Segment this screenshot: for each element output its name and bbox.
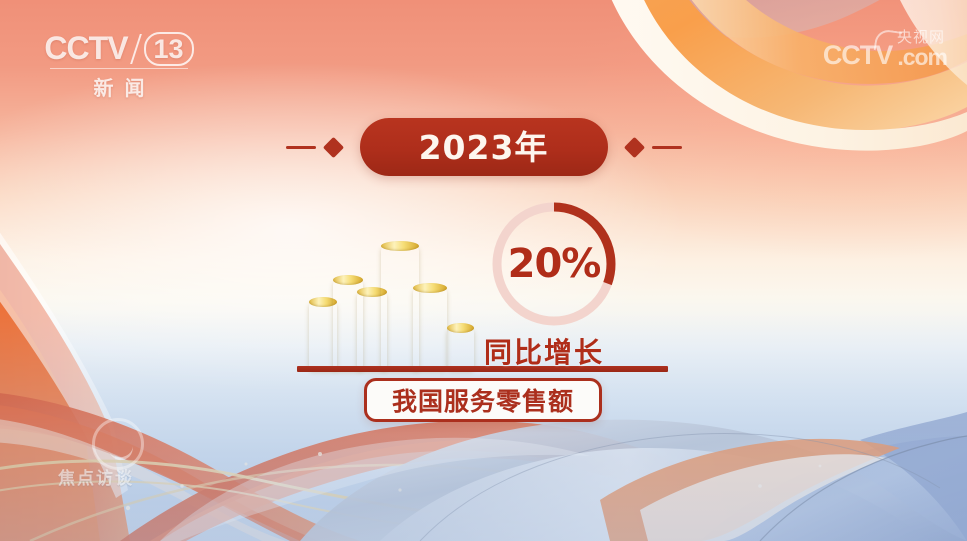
coin-stack-top-icon bbox=[381, 241, 419, 251]
cctv-com-chinese: 央视网 bbox=[897, 26, 945, 47]
year-pill[interactable]: 2023年 bbox=[360, 118, 608, 176]
coin-stack-body bbox=[413, 288, 447, 370]
cctv-com-domain: .com bbox=[897, 44, 947, 71]
logo-slash-icon bbox=[130, 34, 142, 64]
coin-stack-top-icon bbox=[413, 283, 447, 293]
coin-stack-top-icon bbox=[333, 275, 363, 285]
baseline-rule bbox=[297, 366, 668, 372]
year-label: 2023年 bbox=[419, 131, 549, 164]
percent-donut-chart: 20% bbox=[487, 197, 621, 331]
subject-label: 我国服务零售额 bbox=[392, 382, 574, 418]
coin-stack-5 bbox=[413, 288, 447, 370]
percent-value: 20% bbox=[487, 197, 621, 331]
coin-stack-body bbox=[447, 328, 474, 370]
growth-label: 同比增长 bbox=[484, 331, 604, 371]
program-watermark: 焦点访谈 bbox=[58, 430, 134, 455]
coin-stacks-illustration bbox=[305, 236, 480, 370]
program-ring-icon bbox=[92, 418, 144, 470]
cctv-com-watermark: 央视网 CCTV .com bbox=[823, 40, 947, 71]
coin-stack-6 bbox=[447, 328, 474, 370]
program-title: 焦点访谈 bbox=[58, 469, 134, 489]
cctv-logo-row: CCTV 13 bbox=[44, 30, 194, 67]
coin-stack-top-icon bbox=[447, 323, 474, 333]
cctv-wordmark: CCTV bbox=[44, 30, 127, 67]
channel-subtitle: 新闻 bbox=[44, 72, 194, 101]
subject-pill[interactable]: 我国服务零售额 bbox=[364, 378, 602, 422]
logo-underline bbox=[50, 68, 188, 69]
infographic-stage: CCTV 13 新闻 央视网 CCTV .com 焦点访谈 2023年 bbox=[0, 0, 967, 541]
cctv-channel-logo: CCTV 13 新闻 bbox=[44, 30, 194, 101]
channel-number: 13 bbox=[144, 32, 194, 66]
